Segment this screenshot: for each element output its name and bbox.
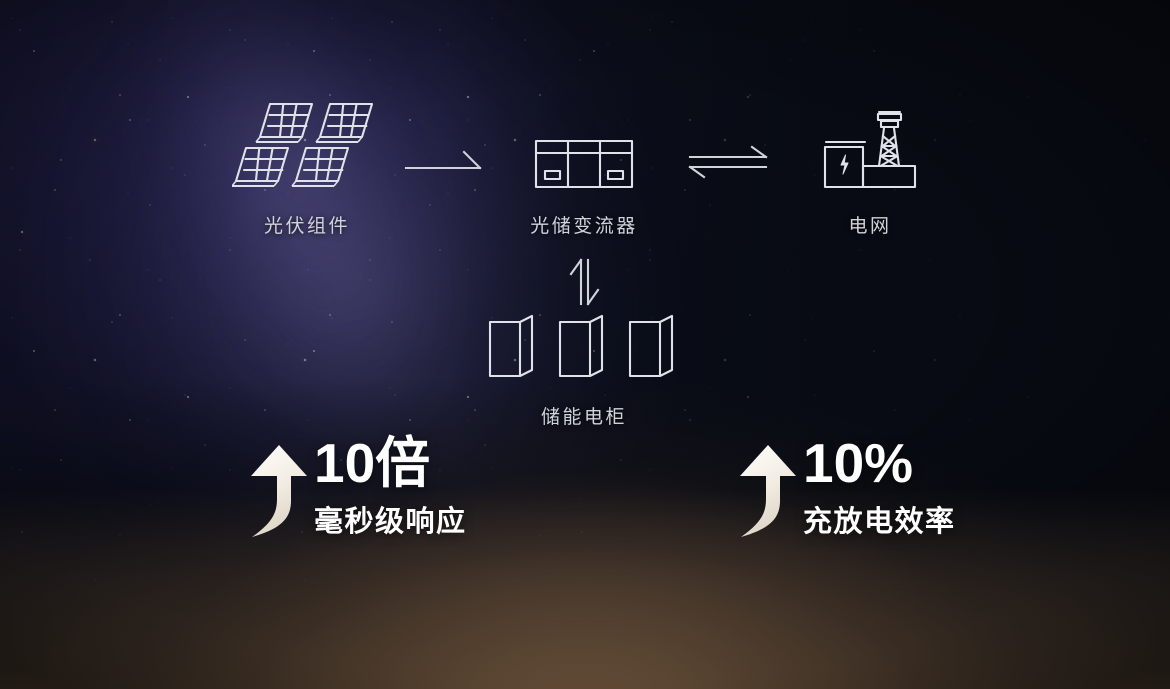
stat-efficiency-value: 10%	[803, 437, 956, 491]
battery-cabinet-icon	[478, 312, 690, 380]
solar-panel-icon	[232, 100, 382, 195]
diagram-node-inverter-label: 光储变流器	[509, 211, 659, 238]
diagram-node-storage-label: 储能电柜	[478, 402, 690, 429]
stat-response-caption: 毫秒级响应	[314, 498, 467, 540]
diagram-node-pv-label: 光伏组件	[232, 211, 382, 238]
diagram-node-pv: 光伏组件	[232, 100, 382, 238]
inverter-icon	[509, 100, 659, 195]
arrow-bidirectional-vertical-icon	[567, 256, 601, 308]
diagram-node-grid-label: 电网	[795, 211, 945, 238]
diagram-node-grid: 电网	[795, 100, 945, 238]
stat-efficiency-caption: 充放电效率	[803, 498, 956, 540]
arrow-right-icon	[404, 148, 484, 174]
system-flow-diagram: 光伏组件 光储变流器	[0, 0, 1170, 689]
up-arrow-icon	[735, 443, 797, 539]
power-grid-icon	[795, 100, 945, 195]
up-arrow-icon	[246, 443, 308, 539]
diagram-node-inverter: 光储变流器	[509, 100, 659, 238]
stat-efficiency-text: 10% 充放电效率	[803, 437, 956, 540]
stat-response-text: 10倍 毫秒级响应	[314, 437, 467, 540]
stat-efficiency: 10% 充放电效率	[735, 437, 956, 540]
arrow-bidirectional-horizontal-icon	[686, 145, 770, 179]
diagram-node-storage: 储能电柜	[478, 312, 690, 429]
hero-banner: 光伏组件 光储变流器	[0, 0, 1170, 689]
stats-row: 10倍 毫秒级响应 10% 充放电效率	[0, 437, 1170, 557]
stat-response: 10倍 毫秒级响应	[246, 437, 467, 540]
stat-response-value: 10倍	[314, 437, 467, 491]
